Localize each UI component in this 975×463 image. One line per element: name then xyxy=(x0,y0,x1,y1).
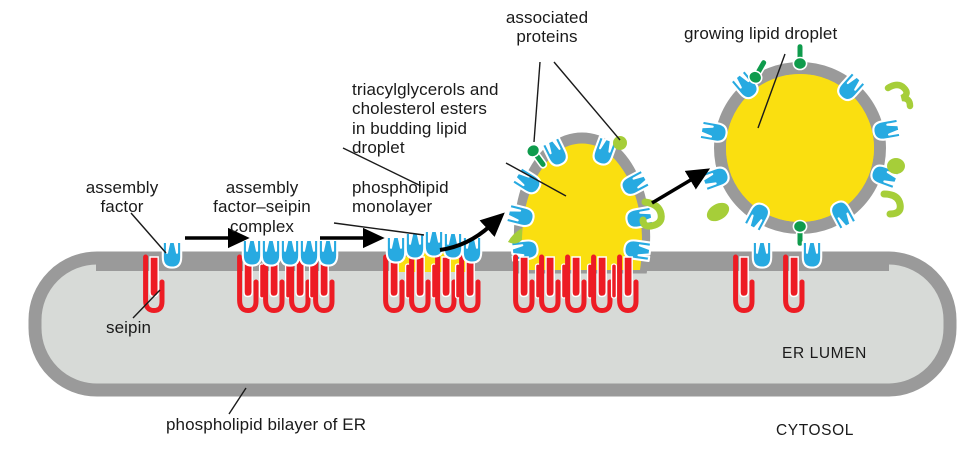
associated-protein-light-dot xyxy=(613,136,627,150)
leader-associated-proteins-left xyxy=(534,62,540,142)
leader-assembly-factor xyxy=(131,213,166,253)
label-phospholipid-monolayer: phospholipid monolayer xyxy=(352,178,449,217)
leader-associated-proteins-right xyxy=(554,62,620,140)
er-lumen-body xyxy=(35,258,950,390)
label-growing-lipid-droplet: growing lipid droplet xyxy=(684,24,837,43)
label-seipin: seipin xyxy=(106,318,151,337)
label-cytosol: CYTOSOL xyxy=(776,422,854,440)
leader-phospholipid-monolayer xyxy=(334,223,424,235)
arrow-stage4-to-stage5 xyxy=(652,178,694,203)
free-associated-protein-squiggle-1 xyxy=(888,85,910,106)
label-triacylglycerols: triacylglycerols and cholesterol esters … xyxy=(352,80,499,158)
free-associated-protein-dot xyxy=(887,158,905,174)
diagram-vector-layer xyxy=(0,0,975,463)
label-er-lumen: ER LUMEN xyxy=(782,345,867,363)
diagram-canvas: assembly factor seipin assembly factor–s… xyxy=(0,0,975,463)
free-associated-protein-squiggle-2 xyxy=(884,194,900,214)
label-associated-proteins: associated proteins xyxy=(486,8,608,47)
endoplasmic-reticulum xyxy=(35,258,950,390)
label-assembly-factor-seipin-complex: assembly factor–seipin complex xyxy=(194,178,330,236)
label-assembly-factor: assembly factor xyxy=(62,178,182,217)
free-associated-protein-blob xyxy=(704,199,733,225)
label-phospholipid-bilayer-of-er: phospholipid bilayer of ER xyxy=(166,415,366,434)
